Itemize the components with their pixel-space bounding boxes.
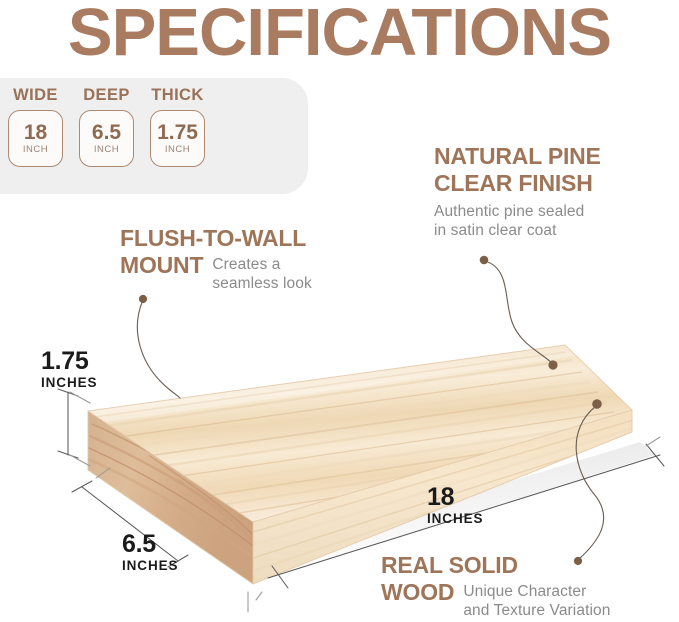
leader-curve-flush-to-wall	[137, 300, 180, 398]
callout-sub-line2: in satin clear coat	[434, 221, 601, 240]
dimension-number: 6.5	[122, 531, 178, 557]
callout-title-line2: CLEAR FINISH	[434, 170, 601, 197]
callout-sub-line2: seamless look	[212, 274, 312, 293]
dimension-label-thickness: 1.75 INCHES	[41, 348, 97, 390]
dot-marker-real-solid-wood-start	[592, 399, 602, 409]
callout-natural-pine: NATURAL PINE CLEAR FINISH Authentic pine…	[434, 143, 601, 240]
callout-subtitle-natural-pine: Authentic pine sealed in satin clear coa…	[434, 202, 601, 240]
dimension-unit: INCHES	[41, 375, 97, 390]
dimension-number: 1.75	[41, 348, 97, 374]
dot-marker-flush-to-wall	[139, 295, 147, 303]
dimension-label-width: 18 INCHES	[427, 484, 483, 526]
callout-title-line1-flush: FLUSH-TO-WALL	[120, 225, 312, 252]
callout-second-row-wood: WOOD Unique Character and Texture Variat…	[381, 579, 610, 620]
dimension-number: 18	[427, 484, 483, 510]
callout-subtitle-flush-to-wall: Creates a seamless look	[203, 252, 312, 293]
dimension-unit: INCHES	[427, 511, 483, 526]
callout-sub-line1: Unique Character	[463, 582, 610, 601]
callout-real-solid-wood: REAL SOLID WOOD Unique Character and Tex…	[381, 552, 610, 620]
infographic-canvas: SPECIFICATIONS WIDE 18 INCH DEEP 6.5 INC…	[0, 0, 679, 622]
callout-flush-to-wall: FLUSH-TO-WALL MOUNT Creates a seamless l…	[120, 225, 312, 293]
product-illustration	[0, 0, 679, 622]
callout-sub-line1: Creates a	[212, 255, 312, 274]
callout-title-line1-wood: REAL SOLID	[381, 552, 610, 579]
callout-subtitle-real-solid-wood: Unique Character and Texture Variation	[454, 579, 610, 620]
callout-title-natural-pine: NATURAL PINE CLEAR FINISH	[434, 143, 601, 196]
dimension-unit: INCHES	[122, 558, 178, 573]
callout-title-line2-wood: WOOD	[381, 579, 454, 606]
callout-sub-line1: Authentic pine sealed	[434, 202, 601, 221]
callout-second-row-flush: MOUNT Creates a seamless look	[120, 252, 312, 293]
callout-title-line1: NATURAL PINE	[434, 143, 601, 170]
dot-marker-natural-pine-start	[480, 256, 489, 265]
dimension-label-depth: 6.5 INCHES	[122, 531, 178, 573]
callout-sub-line2: and Texture Variation	[463, 601, 610, 620]
callout-title-line2-flush: MOUNT	[120, 252, 203, 279]
dot-marker-natural-pine-end	[548, 360, 557, 369]
